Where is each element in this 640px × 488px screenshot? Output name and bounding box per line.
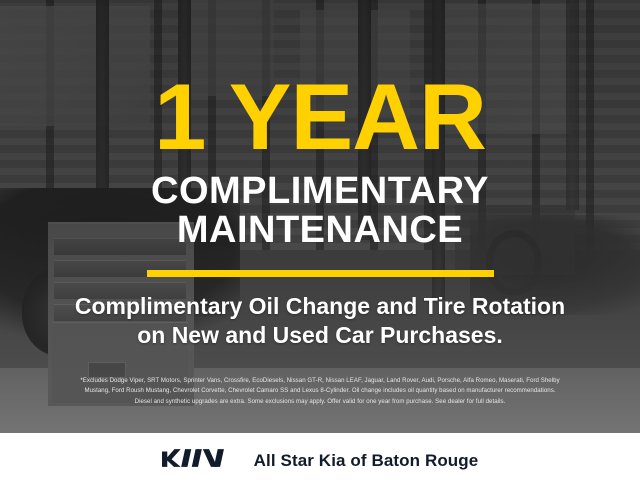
disclaimer-line-2: Mustang, Ford Roush Mustang, Chevrolet C…: [14, 386, 626, 396]
disclaimer-text: *Excludes Dodge Viper, SRT Motors, Sprin…: [14, 376, 626, 407]
headline-subtitle-line-1: COMPLIMENTARY: [151, 170, 489, 212]
headline-subtitle: COMPLIMENTARY MAINTENANCE: [0, 172, 640, 250]
promo-line-1: Complimentary Oil Change and Tire Rotati…: [75, 293, 565, 319]
banner-footer: All Star Kia of Baton Rouge: [0, 433, 640, 488]
kia-logo-icon: [162, 447, 234, 474]
yellow-divider-rule: [147, 270, 494, 277]
disclaimer-line-3: Diesel and synthetic upgrades are extra.…: [14, 397, 626, 407]
promo-banner: 1 YEAR COMPLIMENTARY MAINTENANCE Complim…: [0, 0, 640, 488]
headline-subtitle-line-2: MAINTENANCE: [0, 211, 640, 250]
dealer-name: All Star Kia of Baton Rouge: [254, 451, 479, 471]
banner-content: 1 YEAR COMPLIMENTARY MAINTENANCE Complim…: [0, 0, 640, 433]
promo-description: Complimentary Oil Change and Tire Rotati…: [20, 292, 620, 350]
disclaimer-line-1: *Excludes Dodge Viper, SRT Motors, Sprin…: [14, 376, 626, 386]
headline-year: 1 YEAR: [0, 70, 640, 164]
promo-line-2: on New and Used Car Purchases.: [20, 321, 620, 350]
